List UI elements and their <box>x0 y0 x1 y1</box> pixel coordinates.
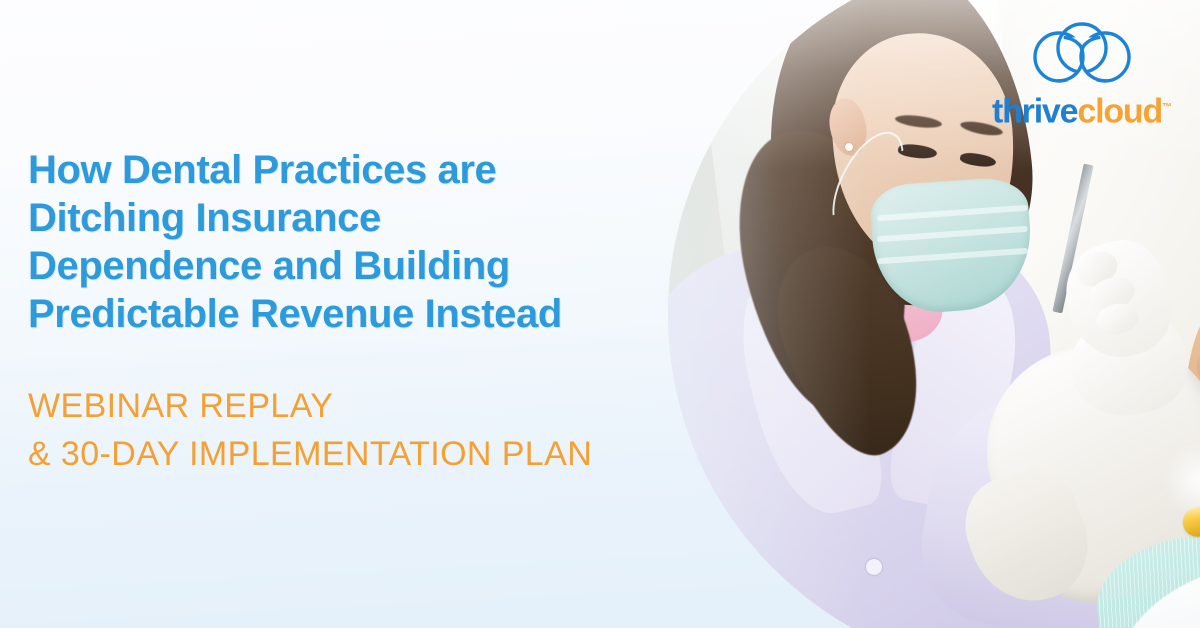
subtitle-line-2: & 30-DAY IMPLEMENTATION PLAN <box>28 430 708 478</box>
page-title: How Dental Practices are Ditching Insura… <box>28 146 708 338</box>
webinar-promo-banner: How Dental Practices are Ditching Insura… <box>0 0 1200 628</box>
headline-line-3: Dependence and Building <box>28 242 708 290</box>
headline-line-4: Predictable Revenue Instead <box>28 290 708 338</box>
logo-wordmark: thrivecloud™ <box>982 90 1182 129</box>
headline-line-1: How Dental Practices are <box>28 146 708 194</box>
thrivecloud-logo[interactable]: thrivecloud™ <box>982 22 1182 129</box>
thrivecloud-logo-icon <box>1032 22 1132 86</box>
subtitle: WEBINAR REPLAY & 30-DAY IMPLEMENTATION P… <box>28 382 708 478</box>
copy-block: How Dental Practices are Ditching Insura… <box>28 146 708 478</box>
logo-word-thrive: thrive <box>992 92 1077 130</box>
subtitle-line-1: WEBINAR REPLAY <box>28 382 708 430</box>
headline-line-2: Ditching Insurance <box>28 194 708 242</box>
logo-word-cloud: cloud <box>1077 92 1162 130</box>
trademark-symbol: ™ <box>1162 102 1172 113</box>
